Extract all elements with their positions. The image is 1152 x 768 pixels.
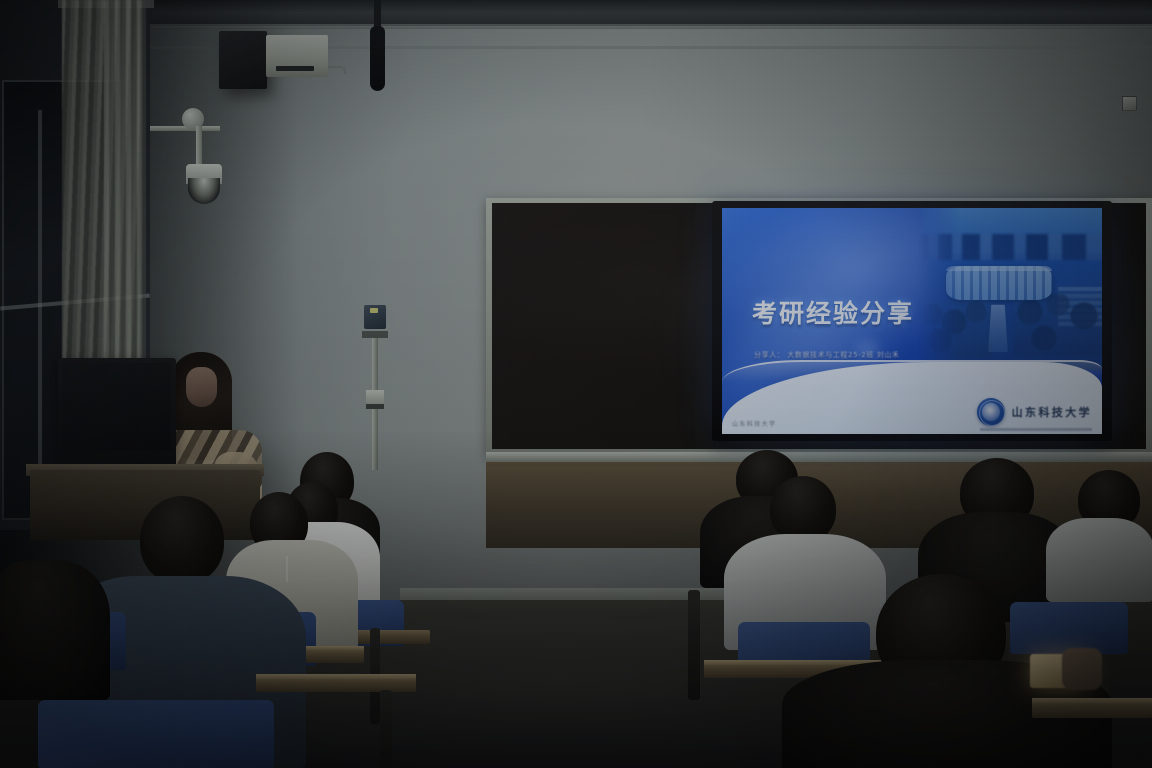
desk-edge [1032,698,1152,703]
podium-monitor-screen [63,363,171,451]
audience-head [140,496,224,584]
slide-subtitle: 分享人： 大数据技术与工程25-2班 刘山禾 [754,350,900,360]
control-panel-led-icon [370,308,378,313]
student-chair[interactable] [38,700,274,768]
hanging-microphone-icon [370,26,385,91]
audience-torso [0,560,110,700]
audience-head [770,476,836,542]
wall-speaker-icon [219,31,267,89]
university-crest-icon [977,398,1005,426]
desk-edge [256,674,416,679]
ac-vent-icon [276,66,314,71]
university-logo-lockup: 山东科技大学 [977,398,1092,426]
slide-wave-highlight [722,360,1102,382]
classroom-photo-scene: 考研经验分享 分享人： 大数据技术与工程25-2班 刘山禾 山东科技大学 山东科… [0,0,1152,768]
control-panel-label [362,331,388,338]
campus-aerial-photo [918,208,1102,370]
student-right-far-b [1046,518,1152,602]
photo-trees-left [918,300,992,358]
presentation-display[interactable]: 考研经验分享 分享人： 大数据技术与工程25-2班 刘山禾 山东科技大学 山东科… [722,208,1102,434]
slide-footnote: 山东科技大学 [732,419,776,428]
photo-main-building [946,266,1052,300]
slide-title: 考研经验分享 [752,294,914,330]
presenter-face [186,367,217,407]
hood-drawstring [286,556,288,582]
camera-bracket-vertical [196,126,202,168]
photo-building-roofline [946,266,1052,271]
ac-cable [328,66,346,74]
photo-trees-right [1014,294,1102,356]
conduit-clip [366,390,384,404]
hand-holding-phone [1062,648,1102,690]
student-chair[interactable] [1010,602,1128,654]
chair-frame [688,590,700,700]
conduit-clip-band [366,404,384,409]
chair-frame [380,690,392,768]
wall-plate-lower [1124,176,1140,188]
photo-plaza-walkway [988,305,1008,352]
university-name: 山东科技大学 [1012,404,1092,420]
photo-skyline [918,234,1102,260]
power-outlet-icon[interactable] [1122,96,1137,111]
